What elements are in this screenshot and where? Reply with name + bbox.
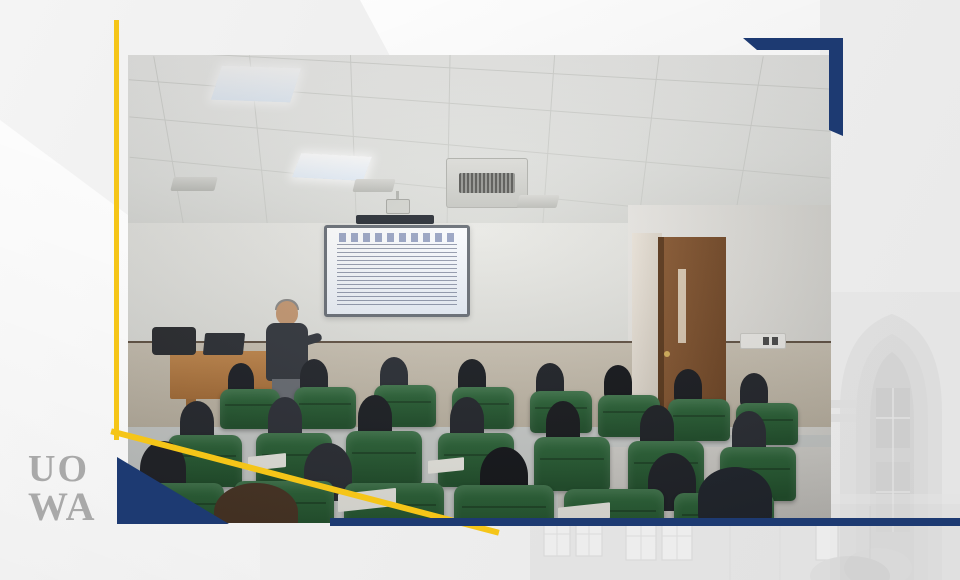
wall-socket-plate xyxy=(740,333,786,349)
audience-member-foreground xyxy=(698,467,772,523)
slide-heading-lines xyxy=(339,233,455,242)
projection-screen xyxy=(324,225,470,317)
event-photo xyxy=(128,55,831,523)
projector xyxy=(386,199,410,214)
auditorium-seat xyxy=(346,431,422,485)
auditorium-seat xyxy=(668,399,730,441)
air-vent xyxy=(516,195,559,208)
event-card: UO WA xyxy=(0,0,960,580)
air-vent xyxy=(170,177,217,191)
slide-body-text xyxy=(337,244,457,306)
logo-line-1: UO xyxy=(28,452,124,487)
presenter-head xyxy=(276,301,298,325)
auditorium-seat xyxy=(534,437,610,491)
laptop xyxy=(203,333,245,355)
ceiling-light xyxy=(211,66,301,103)
bag xyxy=(152,327,196,355)
yellow-vertical-accent xyxy=(114,20,119,440)
ceiling-light xyxy=(292,153,372,181)
air-vent xyxy=(352,179,395,192)
screen-top-bar xyxy=(356,215,434,224)
ceiling-ac-unit xyxy=(446,158,528,208)
uowa-logo: UO WA xyxy=(28,452,124,536)
logo-line-2: WA xyxy=(28,489,124,526)
auditorium-seat xyxy=(294,387,356,429)
door-glass-panel xyxy=(678,269,686,343)
blue-bottom-strip xyxy=(330,518,960,526)
audience-seating xyxy=(128,355,831,523)
